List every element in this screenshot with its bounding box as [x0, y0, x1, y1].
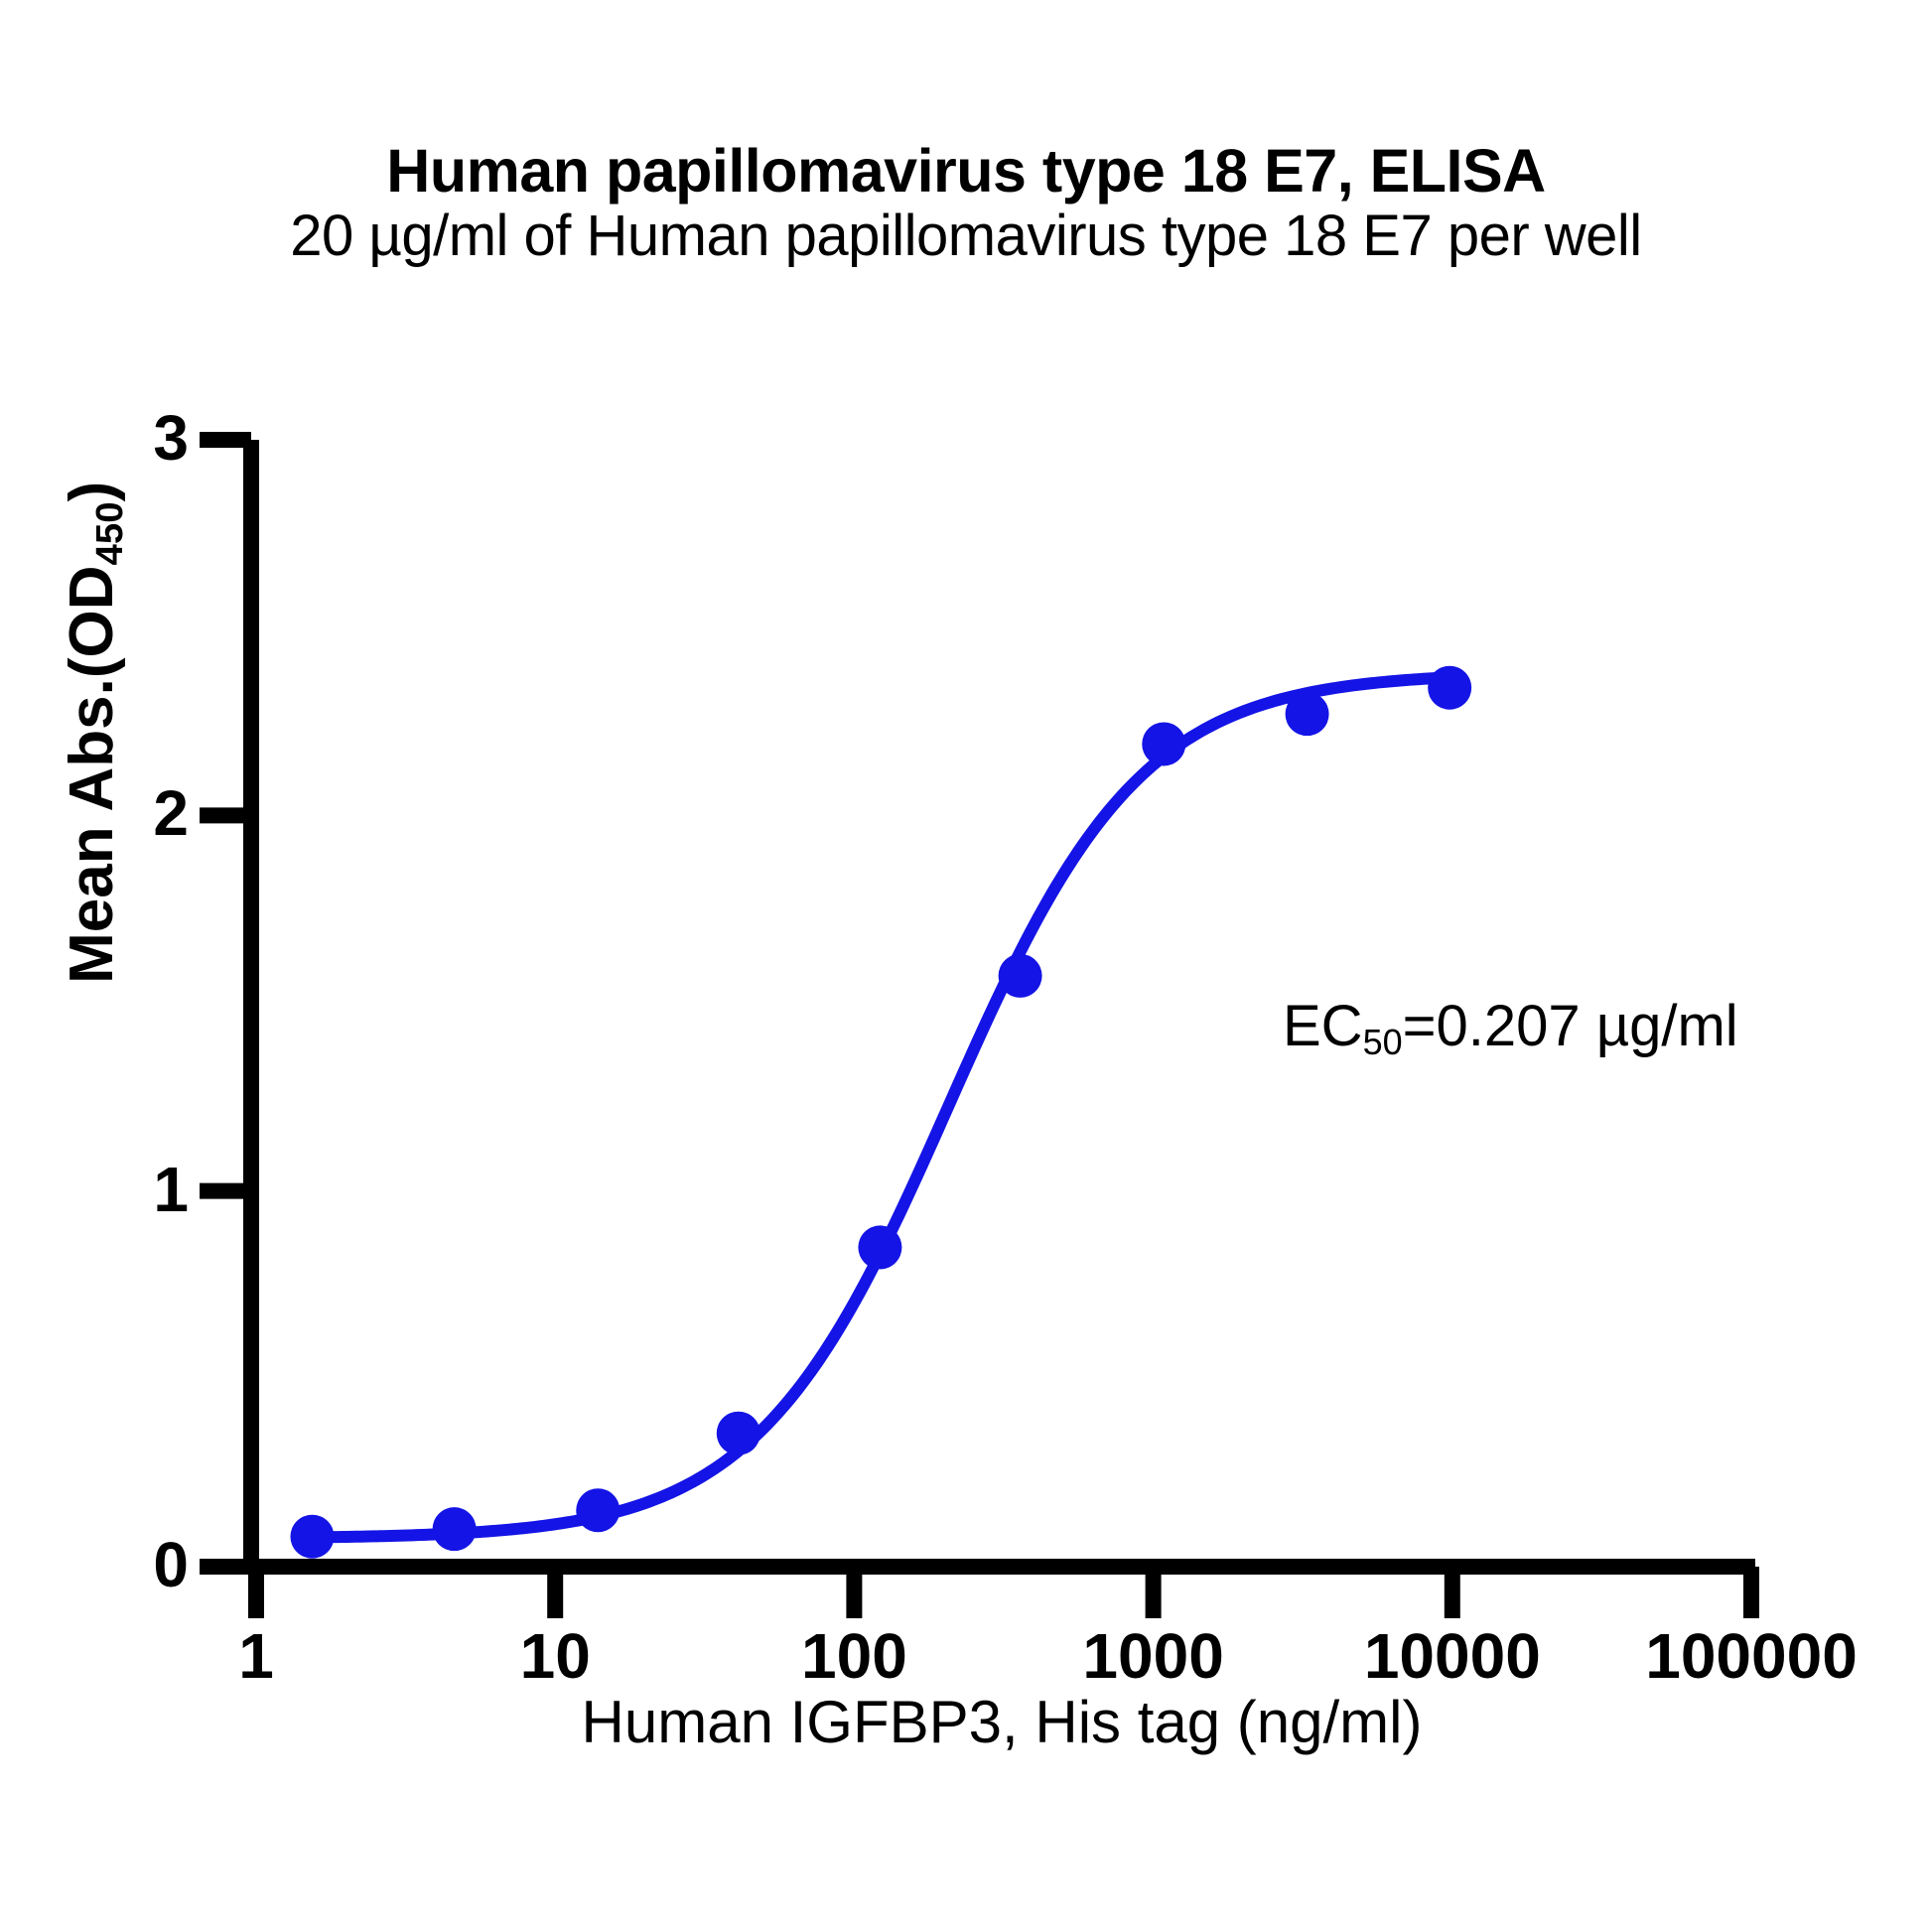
data-point-2 — [576, 1488, 620, 1532]
chart-figure: Human papillomavirus type 18 E7, ELISA 2… — [0, 0, 1932, 1932]
x-tick-label-100000: 100000 — [1645, 1624, 1858, 1688]
data-point-4 — [858, 1225, 901, 1269]
x-tick-label-1: 1 — [238, 1624, 274, 1688]
y-tick-label-3: 3 — [99, 406, 189, 470]
data-point-7 — [1286, 692, 1329, 736]
x-tick-label-10: 10 — [520, 1624, 591, 1688]
plot-area — [0, 0, 1932, 1932]
y-tick-label-0: 0 — [99, 1533, 189, 1596]
data-point-0 — [290, 1515, 334, 1559]
data-point-6 — [1142, 722, 1185, 765]
data-point-8 — [1428, 666, 1471, 710]
fit-curve — [312, 677, 1449, 1537]
data-points — [290, 666, 1471, 1559]
x-tick-label-1000: 1000 — [1082, 1624, 1223, 1688]
data-point-5 — [999, 954, 1042, 998]
data-point-1 — [433, 1507, 477, 1551]
y-tick-label-1: 1 — [99, 1158, 189, 1221]
x-tick-label-100: 100 — [801, 1624, 907, 1688]
data-point-3 — [717, 1412, 760, 1455]
x-tick-label-10000: 10000 — [1364, 1624, 1541, 1688]
y-tick-label-2: 2 — [99, 781, 189, 845]
